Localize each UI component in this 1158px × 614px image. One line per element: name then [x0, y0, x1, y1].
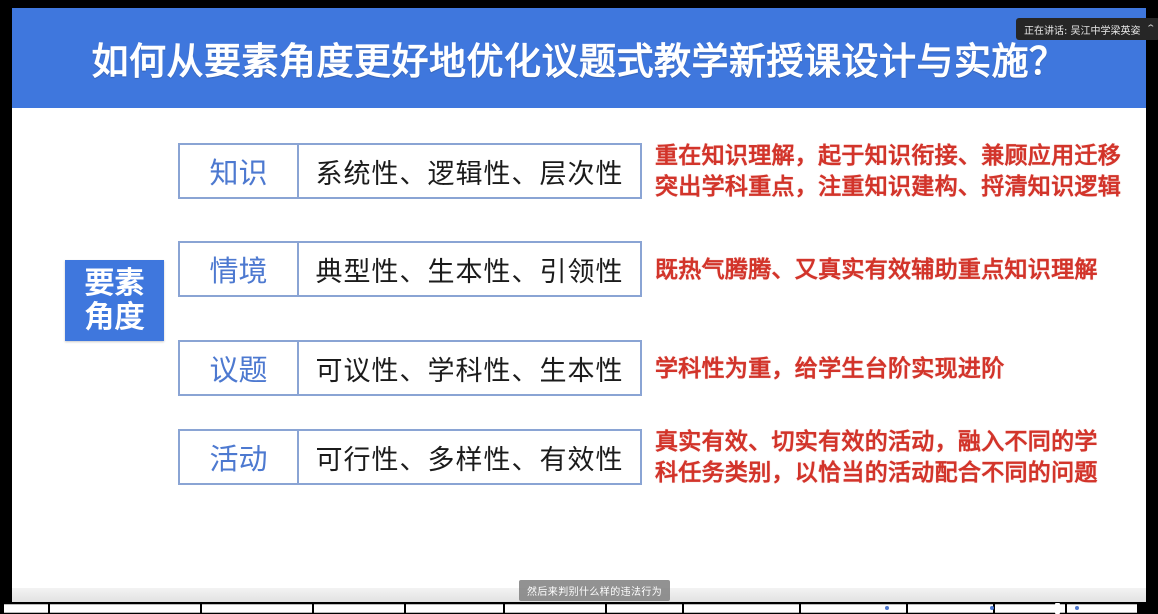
timeline-marker[interactable] — [885, 606, 889, 610]
element-note-line: 学科性为重，给学生台阶实现进阶 — [655, 354, 1137, 385]
element-traits: 可议性、学科性、生本性 — [299, 342, 640, 394]
chevron-up-icon[interactable]: ⌃ — [1145, 24, 1156, 34]
presentation-slide: 如何从要素角度更好地优化议题式教学新授课设计与实施？ 要素 角度 知识 系统性、… — [12, 8, 1146, 596]
timeline-segment[interactable] — [50, 604, 200, 613]
current-speaker-label: 正在讲话: 吴江中学梁英姿 — [1024, 22, 1141, 37]
current-speaker-badge[interactable]: 正在讲话: 吴江中学梁英姿 ⌃ — [1016, 18, 1158, 40]
timeline-segment[interactable] — [314, 604, 404, 613]
timeline-segment[interactable] — [406, 604, 503, 613]
video-timeline[interactable] — [0, 602, 1158, 614]
timeline-playhead[interactable] — [1055, 603, 1060, 614]
element-row: 活动 可行性、多样性、有效性 真实有效、切实有效的活动，融入不同的学 科任务类别… — [12, 429, 1146, 489]
element-note: 真实有效、切实有效的活动，融入不同的学 科任务类别，以恰当的活动配合不同的问题 — [655, 427, 1137, 488]
page-title: 如何从要素角度更好地优化议题式教学新授课设计与实施？ — [12, 8, 1146, 108]
live-caption: 然后来判别什么样的违法行为 — [519, 580, 670, 601]
element-box: 知识 系统性、逻辑性、层次性 — [178, 143, 642, 199]
element-row: 议题 可议性、学科性、生本性 学科性为重，给学生台阶实现进阶 — [12, 340, 1146, 400]
slide-title-band: 如何从要素角度更好地优化议题式教学新授课设计与实施？ — [12, 8, 1146, 108]
timeline-segment[interactable] — [202, 604, 312, 613]
timeline-marker[interactable] — [1075, 606, 1079, 610]
element-key: 议题 — [180, 342, 299, 394]
video-viewer: 如何从要素角度更好地优化议题式教学新授课设计与实施？ 要素 角度 知识 系统性、… — [0, 0, 1158, 614]
element-note: 既热气腾腾、又真实有效辅助重点知识理解 — [655, 255, 1137, 286]
element-box: 情境 典型性、生本性、引领性 — [178, 241, 642, 297]
element-key: 活动 — [180, 431, 299, 483]
timeline-segment[interactable] — [505, 604, 605, 613]
element-traits: 可行性、多样性、有效性 — [299, 431, 640, 483]
element-box: 活动 可行性、多样性、有效性 — [178, 429, 642, 485]
timeline-segment[interactable] — [908, 604, 993, 613]
element-note-line: 真实有效、切实有效的活动，融入不同的学 — [655, 427, 1137, 458]
timeline-segment[interactable] — [4, 604, 48, 613]
element-note-line: 重在知识理解，起于知识衔接、兼顾应用迁移 — [655, 141, 1137, 172]
element-row: 知识 系统性、逻辑性、层次性 重在知识理解，起于知识衔接、兼顾应用迁移 突出学科… — [12, 143, 1146, 203]
element-note: 重在知识理解，起于知识衔接、兼顾应用迁移 突出学科重点，注重知识建构、捋清知识逻… — [655, 141, 1137, 202]
element-note-line: 突出学科重点，注重知识建构、捋清知识逻辑 — [655, 172, 1137, 203]
element-note: 学科性为重，给学生台阶实现进阶 — [655, 354, 1137, 385]
timeline-segment[interactable] — [684, 604, 799, 613]
element-traits: 系统性、逻辑性、层次性 — [299, 145, 640, 197]
timeline-marker[interactable] — [990, 606, 994, 610]
timeline-segment[interactable] — [801, 604, 906, 613]
element-note-line: 科任务类别，以恰当的活动配合不同的问题 — [655, 458, 1137, 489]
element-traits: 典型性、生本性、引领性 — [299, 243, 640, 295]
element-box: 议题 可议性、学科性、生本性 — [178, 340, 642, 396]
element-row: 情境 典型性、生本性、引领性 既热气腾腾、又真实有效辅助重点知识理解 — [12, 241, 1146, 301]
slide-content: 要素 角度 知识 系统性、逻辑性、层次性 重在知识理解，起于知识衔接、兼顾应用迁… — [12, 108, 1146, 596]
element-key: 情境 — [180, 243, 299, 295]
timeline-segment[interactable] — [607, 604, 682, 613]
element-note-line: 既热气腾腾、又真实有效辅助重点知识理解 — [655, 255, 1137, 286]
aspect-callout-line-2: 角度 — [85, 301, 145, 335]
element-key: 知识 — [180, 145, 299, 197]
